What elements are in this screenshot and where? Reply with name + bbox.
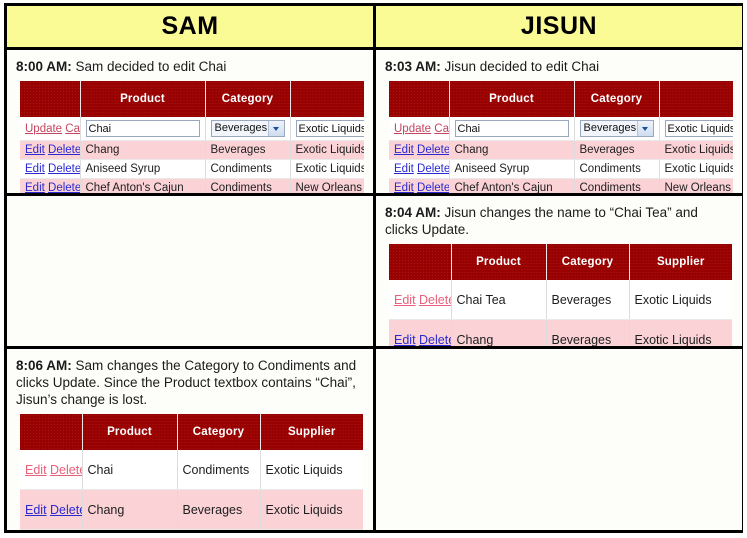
caption-jisun-step1: 8:03 AM: Jisun decided to edit Chai — [385, 58, 733, 75]
cancel-link[interactable]: Cancel — [65, 123, 80, 135]
category-cell: Beverages — [205, 141, 290, 160]
product-cell: Aniseed Syrup — [80, 160, 205, 179]
col-category: Category — [177, 414, 260, 450]
category-cell-editor: Beverages — [205, 117, 290, 141]
col-product: Product — [451, 244, 546, 280]
supplier-cell-editor — [290, 117, 364, 141]
edit-link[interactable]: Edit — [394, 293, 416, 307]
supplier-cell: New Orleans Cajun Delights — [659, 179, 733, 194]
delete-link[interactable]: Delete — [50, 463, 82, 477]
category-dropdown[interactable]: Beverages — [580, 120, 654, 137]
delete-link[interactable]: Delete — [50, 503, 82, 517]
category-cell: Condiments — [574, 179, 659, 194]
product-cell: Chai — [82, 450, 177, 490]
product-textbox[interactable] — [86, 120, 200, 137]
delete-link[interactable]: Delete — [48, 144, 80, 156]
category-dropdown-value: Beverages — [584, 122, 637, 134]
update-link[interactable]: Update — [394, 123, 431, 135]
table-row-edit: Update Cancel Beverages — [20, 117, 364, 141]
cell-jisun-step1: 8:03 AM: Jisun decided to edit Chai Prod… — [376, 50, 742, 193]
category-cell: Condiments — [205, 160, 290, 179]
col-supplier: Supplier — [260, 414, 363, 450]
table-row: Edit Delete Chai Tea Beverages Exotic Li… — [389, 280, 732, 320]
category-cell: Beverages — [177, 490, 260, 530]
row-actions: Edit Delete — [389, 280, 451, 320]
category-cell: Beverages — [546, 320, 629, 347]
col-category: Category — [574, 81, 659, 117]
table-row: Edit Delete Chef Anton's Cajun Condiment… — [389, 179, 733, 194]
gridview-sam-step1: Product Category Supplier Update Cancel … — [16, 81, 364, 193]
col-actions — [20, 81, 80, 117]
row-actions-edit-mode: Update Cancel — [20, 117, 80, 141]
product-cell: Chang — [449, 141, 574, 160]
edit-link[interactable]: Edit — [25, 463, 47, 477]
table-header-row: Product Category Supplier — [20, 81, 364, 117]
row-actions: Edit Delete — [389, 179, 449, 194]
edit-link[interactable]: Edit — [25, 182, 45, 193]
caption-sam-step1-time: 8:00 AM: — [16, 59, 72, 74]
table-row: Edit Delete Chang Beverages Exotic Liqui… — [20, 141, 364, 160]
panel-header-jisun-label: JISUN — [521, 12, 597, 41]
products-table: Product Category Supplier Edit Delete Ch… — [20, 414, 363, 530]
cell-sam-step2: 8:06 AM: Sam changes the Category to Con… — [7, 349, 373, 530]
col-actions — [20, 414, 82, 450]
table-row-edit: Update Cancel Beverages — [389, 117, 733, 141]
category-cell: Condiments — [205, 179, 290, 194]
supplier-textbox[interactable] — [665, 120, 734, 137]
supplier-cell: Exotic Liquids — [659, 160, 733, 179]
table-row: Edit Delete Chang Beverages Exotic Liqui… — [389, 141, 733, 160]
edit-link[interactable]: Edit — [25, 503, 47, 517]
category-cell: Beverages — [574, 141, 659, 160]
delete-link[interactable]: Delete — [48, 163, 80, 175]
gridview-jisun-step2: Product Category Supplier Edit Delete Ch… — [385, 244, 733, 346]
products-table: Product Category Supplier Update Cancel … — [389, 81, 733, 193]
supplier-textbox[interactable] — [296, 120, 365, 137]
table-header-row: Product Category Supplier — [20, 414, 363, 450]
caption-sam-step1: 8:00 AM: Sam decided to edit Chai — [16, 58, 364, 75]
row-actions-edit-mode: Update Cancel — [389, 117, 449, 141]
caption-jisun-step2-time: 8:04 AM: — [385, 205, 441, 220]
chevron-down-icon[interactable] — [637, 121, 653, 136]
delete-link[interactable]: Delete — [419, 293, 451, 307]
caption-sam-step2-time: 8:06 AM: — [16, 358, 72, 373]
gridview-sam-step2: Product Category Supplier Edit Delete Ch… — [16, 414, 364, 530]
storyboard-root: SAM JISUN 8:00 AM: Sam decided to edit C… — [0, 0, 747, 538]
caption-sam-step2: 8:06 AM: Sam changes the Category to Con… — [16, 357, 364, 408]
caption-jisun-step2: 8:04 AM: Jisun changes the name to “Chai… — [385, 204, 733, 238]
delete-link[interactable]: Delete — [417, 163, 449, 175]
supplier-cell: Exotic Liquids — [659, 141, 733, 160]
delete-link[interactable]: Delete — [417, 144, 449, 156]
category-cell: Beverages — [546, 280, 629, 320]
table-row: Edit Delete Chai Condiments Exotic Liqui… — [20, 450, 363, 490]
gridview-jisun-step1: Product Category Supplier Update Cancel … — [385, 81, 733, 193]
caption-jisun-step1-text: Jisun decided to edit Chai — [441, 59, 599, 74]
table-row: Edit Delete Aniseed Syrup Condiments Exo… — [389, 160, 733, 179]
panel-header-jisun: JISUN — [376, 6, 742, 47]
supplier-cell: Exotic Liquids — [290, 141, 364, 160]
category-dropdown[interactable]: Beverages — [211, 120, 285, 137]
row-actions: Edit Delete — [20, 490, 82, 530]
cancel-link[interactable]: Cancel — [434, 123, 449, 135]
category-cell: Condiments — [574, 160, 659, 179]
product-cell: Chef Anton's Cajun — [449, 179, 574, 194]
supplier-cell: Exotic Liquids — [290, 160, 364, 179]
supplier-cell: Exotic Liquids — [629, 280, 732, 320]
col-product: Product — [82, 414, 177, 450]
panel-header-sam-label: SAM — [161, 12, 218, 41]
row-actions: Edit Delete — [389, 141, 449, 160]
col-actions — [389, 244, 451, 280]
product-cell: Chang — [451, 320, 546, 347]
panel-header-sam: SAM — [7, 6, 373, 47]
edit-link[interactable]: Edit — [394, 163, 414, 175]
caption-jisun-step1-time: 8:03 AM: — [385, 59, 441, 74]
supplier-cell: New Orleans Cajun Delights — [290, 179, 364, 194]
supplier-cell: Exotic Liquids — [260, 490, 363, 530]
col-category: Category — [205, 81, 290, 117]
edit-link[interactable]: Edit — [25, 144, 45, 156]
product-cell: Chang — [82, 490, 177, 530]
table-header-row: Product Category Supplier — [389, 244, 732, 280]
table-row: Edit Delete Aniseed Syrup Condiments Exo… — [20, 160, 364, 179]
col-supplier: Supplier — [659, 81, 733, 117]
delete-link[interactable]: Delete — [48, 182, 80, 193]
product-cell: Aniseed Syrup — [449, 160, 574, 179]
category-cell-editor: Beverages — [574, 117, 659, 141]
supplier-cell: Exotic Liquids — [260, 450, 363, 490]
row-actions: Edit Delete — [20, 450, 82, 490]
table-row: Edit Delete Chang Beverages Exotic Liqui… — [20, 490, 363, 530]
category-dropdown-value: Beverages — [215, 122, 268, 134]
products-table: Product Category Supplier Edit Delete Ch… — [389, 244, 732, 346]
edit-link[interactable]: Edit — [25, 163, 45, 175]
product-cell: Chai Tea — [451, 280, 546, 320]
table-row: Edit Delete Chef Anton's Cajun Condiment… — [20, 179, 364, 194]
update-link[interactable]: Update — [25, 123, 62, 135]
cell-sam-empty — [7, 196, 373, 346]
col-product: Product — [449, 81, 574, 117]
col-supplier: Supplier — [290, 81, 364, 117]
row-actions: Edit Delete — [389, 320, 451, 347]
col-supplier: Supplier — [629, 244, 732, 280]
row-actions: Edit Delete — [20, 141, 80, 160]
table-header-row: Product Category Supplier — [389, 81, 733, 117]
row-actions: Edit Delete — [389, 160, 449, 179]
delete-link[interactable]: Delete — [419, 333, 451, 347]
col-category: Category — [546, 244, 629, 280]
cell-jisun-empty — [376, 349, 742, 530]
product-cell: Chang — [80, 141, 205, 160]
product-cell: Chef Anton's Cajun — [80, 179, 205, 194]
caption-sam-step1-text: Sam decided to edit Chai — [72, 59, 227, 74]
product-cell-editor — [449, 117, 574, 141]
col-product: Product — [80, 81, 205, 117]
table-row: Edit Delete Chang Beverages Exotic Liqui… — [389, 320, 732, 347]
edit-link[interactable]: Edit — [394, 333, 416, 347]
product-cell-editor — [80, 117, 205, 141]
edit-link[interactable]: Edit — [394, 144, 414, 156]
row-actions: Edit Delete — [20, 160, 80, 179]
col-actions — [389, 81, 449, 117]
product-textbox[interactable] — [455, 120, 569, 137]
supplier-cell: Exotic Liquids — [629, 320, 732, 347]
supplier-cell-editor — [659, 117, 733, 141]
edit-link[interactable]: Edit — [394, 182, 414, 193]
products-table: Product Category Supplier Update Cancel … — [20, 81, 364, 193]
cell-sam-step1: 8:00 AM: Sam decided to edit Chai Produc… — [7, 50, 373, 193]
chevron-down-icon[interactable] — [268, 121, 284, 136]
row-actions: Edit Delete — [20, 179, 80, 194]
delete-link[interactable]: Delete — [417, 182, 449, 193]
category-cell: Condiments — [177, 450, 260, 490]
cell-jisun-step2: 8:04 AM: Jisun changes the name to “Chai… — [376, 196, 742, 346]
storyboard-grid: SAM JISUN 8:00 AM: Sam decided to edit C… — [4, 3, 743, 533]
